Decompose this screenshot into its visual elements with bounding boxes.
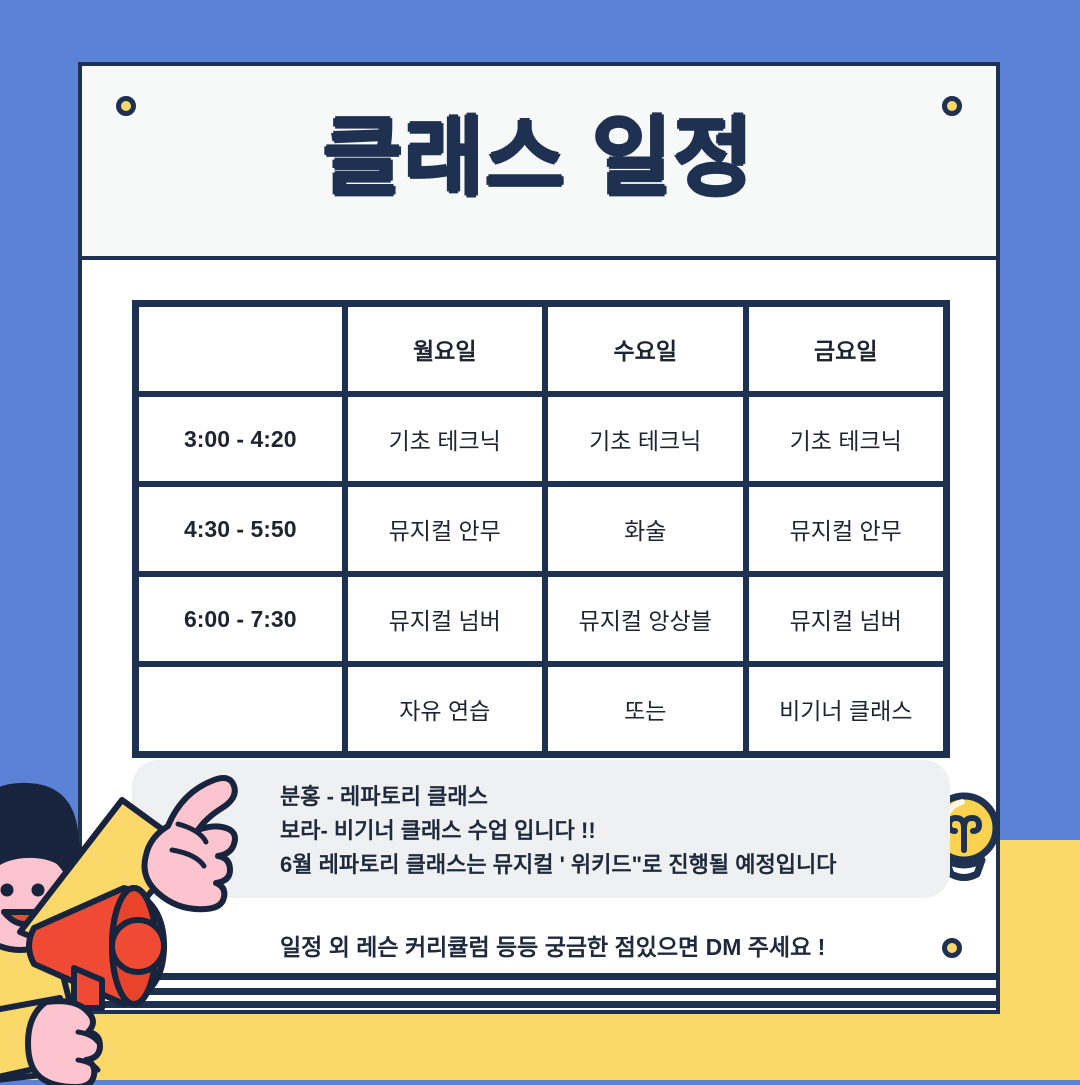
class-cell: 화술: [545, 484, 746, 574]
stripe: [82, 973, 996, 980]
note-line-pink: 분홍 - 레파토리 클래스: [280, 780, 924, 814]
table-row: 4:30 - 5:50 뮤지컬 안무 화술 뮤지컬 안무: [136, 484, 946, 574]
time-cell: 6:00 - 7:30: [136, 574, 345, 664]
class-cell: 뮤지컬 넘버: [345, 574, 546, 664]
schedule-table-wrapper: 월요일 수요일 금요일 3:00 - 4:20 기초 테크닉 기초 테크닉 기초…: [132, 300, 950, 758]
footer-dm-text: 일정 외 레슨 커리큘럼 등등 궁금한 점있으면 DM 주세요 !: [280, 928, 825, 962]
table-row: 자유 연습 또는 비기너 클래스: [136, 664, 946, 754]
note-line-june: 6월 레파토리 클래스는 뮤지컬 ' 위키드"로 진행될 예정입니다: [280, 848, 924, 882]
poster-card: 클래스 일정 월요일 수요일 금요일 3:00 - 4:20: [78, 62, 1000, 1014]
column-header-friday: 금요일: [746, 304, 947, 394]
class-cell: 뮤지컬 넘버: [746, 574, 947, 664]
class-cell: 기초 테크닉: [345, 394, 546, 484]
class-cell: 기초 테크닉: [545, 394, 746, 484]
time-cell: [136, 664, 345, 754]
schedule-table: 월요일 수요일 금요일 3:00 - 4:20 기초 테크닉 기초 테크닉 기초…: [132, 300, 950, 758]
stripe: [82, 988, 996, 995]
time-cell: 4:30 - 5:50: [136, 484, 345, 574]
class-cell: 뮤지컬 안무: [746, 484, 947, 574]
title-panel: 클래스 일정: [82, 66, 996, 260]
stripe: [82, 1001, 996, 1008]
class-cell: 또는: [545, 664, 746, 754]
table-header-row: 월요일 수요일 금요일: [136, 304, 946, 394]
column-header-monday: 월요일: [345, 304, 546, 394]
table-row: 3:00 - 4:20 기초 테크닉 기초 테크닉 기초 테크닉: [136, 394, 946, 484]
time-cell: 3:00 - 4:20: [136, 394, 345, 484]
class-cell: 비기너 클래스: [746, 664, 947, 754]
note-line-purple: 보라- 비기너 클래스 수업 입니다 !!: [280, 814, 924, 848]
class-cell: 뮤지컬 앙상블: [545, 574, 746, 664]
column-header-wednesday: 수요일: [545, 304, 746, 394]
bottom-stripes: [82, 968, 996, 1010]
note-box: 분홍 - 레파토리 클래스 보라- 비기너 클래스 수업 입니다 !! 6월 레…: [132, 760, 950, 898]
class-cell: 자유 연습: [345, 664, 546, 754]
page-title: 클래스 일정: [323, 115, 755, 207]
pin-dot-icon-top-left: [116, 96, 136, 116]
schedule-table-head: 월요일 수요일 금요일: [136, 304, 946, 394]
poster-root: 클래스 일정 월요일 수요일 금요일 3:00 - 4:20: [0, 0, 1080, 1080]
schedule-table-body: 3:00 - 4:20 기초 테크닉 기초 테크닉 기초 테크닉 4:30 - …: [136, 394, 946, 754]
class-cell: 뮤지컬 안무: [345, 484, 546, 574]
table-corner-cell: [136, 304, 345, 394]
pin-dot-icon-bottom-right: [942, 938, 962, 958]
table-row: 6:00 - 7:30 뮤지컬 넘버 뮤지컬 앙상블 뮤지컬 넘버: [136, 574, 946, 664]
pin-dot-icon-top-right: [942, 96, 962, 116]
class-cell: 기초 테크닉: [746, 394, 947, 484]
